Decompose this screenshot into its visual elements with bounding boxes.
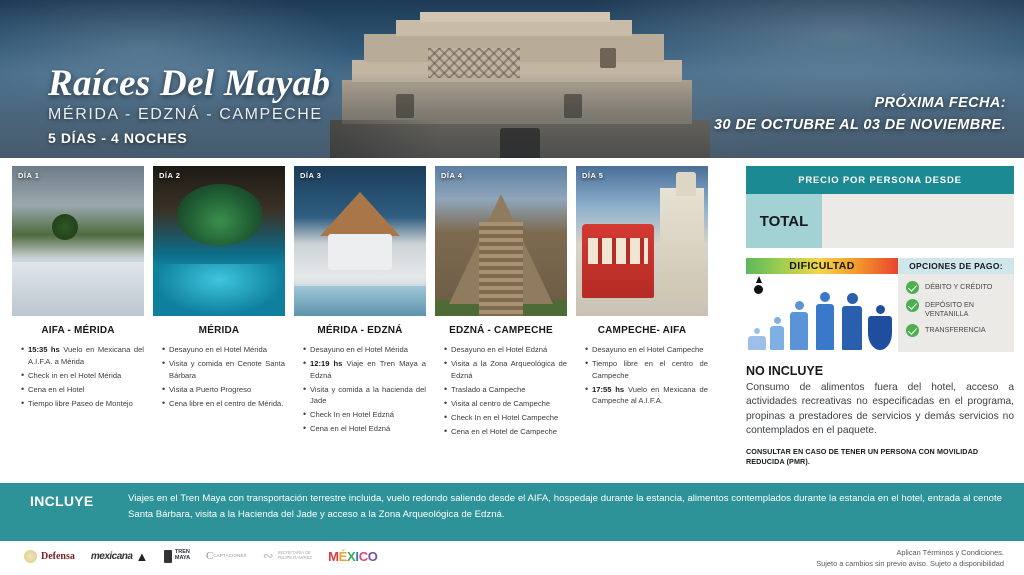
day-badge-4: DÍA 4 (441, 171, 462, 180)
day-card-5: DÍA 5CAMPECHE- AIFADesayuno en el Hotel … (576, 166, 708, 409)
eagle-icon: ▲ (135, 549, 147, 564)
day-items-2: Desayuno en el Hotel MéridaVisita y comi… (153, 344, 285, 409)
day-badge-1: DÍA 1 (18, 171, 39, 180)
not-included-heading: NO INCLUYE (746, 364, 1014, 378)
difficulty-figures (746, 274, 898, 352)
day-title-3: MÉRIDA - EDZNÁ (294, 325, 426, 336)
not-included-section: NO INCLUYE Consumo de alimentos fuera de… (746, 364, 1014, 466)
mexico-logo: MÉXICO (328, 549, 378, 564)
item-time: 17:55 hs (592, 385, 624, 394)
check-circle-icon (906, 299, 919, 312)
baby-crawling-icon (748, 328, 766, 350)
mexico-letter-5: C (359, 549, 368, 564)
mexico-letter-6: O (368, 549, 378, 564)
day-4-item-1: Desayuno en el Hotel Edzná (444, 344, 567, 356)
felipe-ramirez-logo: ∾ SECRETARÍA DE FELIPE RAMÍREZ (263, 548, 312, 564)
difficulty-payment-body: DÉBITO Y CRÉDITODEPÓSITO EN VENTANILLATR… (746, 274, 1014, 352)
day-items-5: Desayuno en el Hotel CampecheTiempo libr… (576, 344, 708, 407)
hero-banner: Raíces Del Mayab MÉRIDA - EDZNÁ - CAMPEC… (0, 0, 1024, 158)
tren-maya-logo: TREN MAYA (164, 550, 190, 563)
terms-text: Aplican Términos y Condiciones. Sujeto a… (816, 547, 1004, 569)
day-badge-3: DÍA 3 (300, 171, 321, 180)
day-card-2: DÍA 2MÉRIDADesayuno en el Hotel MéridaVi… (153, 166, 285, 412)
day-5-item-2: Tiempo libre en el centro de Campeche (585, 358, 708, 381)
mexico-letter-1: M (328, 549, 339, 564)
page-title: Raíces Del Mayab (48, 62, 330, 105)
payment-options-header: OPCIONES DE PAGO: (898, 258, 1014, 274)
difficulty-scale-bar: DIFICULTAD (746, 258, 898, 274)
footer: Defensa mexicana ▲ TREN MAYA C CAPTACION… (0, 541, 1024, 575)
day-title-5: CAMPECHE- AIFA (576, 325, 708, 336)
included-label: INCLUYE (30, 491, 128, 509)
merida-colonial-cityscape-photo: DÍA 1 (12, 166, 144, 316)
cenote-santa-barbara-photo: DÍA 2 (153, 166, 285, 316)
day-items-4: Desayuno en el Hotel EdznáVisita a la Zo… (435, 344, 567, 437)
day-title-2: MÉRIDA (153, 325, 285, 336)
day-3-item-1: Desayuno en el Hotel Mérida (303, 344, 426, 356)
price-header: PRECIO POR PERSONA DESDE (746, 166, 1014, 194)
day-4-item-5: Check In en el Hotel Campeche (444, 412, 567, 424)
capitaciones-mark-icon: C (206, 551, 213, 562)
pmr-note: CONSULTAR EN CASO DE TENER UN PERSONA CO… (746, 447, 1014, 466)
swoosh-icon: ∾ (263, 548, 274, 564)
day-items-3: Desayuno en el Hotel Mérida12:19 hs Viaj… (294, 344, 426, 435)
day-card-1: DÍA 1AIFA - MÉRIDA15:35 hs Vuelo en Mexi… (12, 166, 144, 412)
mexico-letter-3: X (347, 549, 355, 564)
hero-duration: 5 DÍAS - 4 NOCHES (48, 130, 187, 146)
day-3-item-4: Check In en Hotel Edzná (303, 409, 426, 421)
payment-options-list: DÉBITO Y CRÉDITODEPÓSITO EN VENTANILLATR… (898, 274, 1014, 352)
capitaciones-logo-text: CAPTACIONES (213, 554, 246, 558)
day-5-item-1: Desayuno en el Hotel Campeche (585, 344, 708, 356)
check-circle-icon (906, 281, 919, 294)
payment-option-3: TRANSFERENCIA (906, 324, 1008, 337)
hotel-palapa-pool-photo: DÍA 3 (294, 166, 426, 316)
payment-option-label: DEPÓSITO EN VENTANILLA (925, 299, 1008, 319)
price-body: TOTAL (746, 194, 1014, 248)
next-date-block: PRÓXIMA FECHA: 30 DE OCTUBRE AL 03 DE NO… (714, 93, 1006, 137)
defensa-logo: Defensa (24, 550, 75, 563)
day-card-4: DÍA 4EDZNÁ - CAMPECHEDesayuno en el Hote… (435, 166, 567, 440)
payment-option-1: DÉBITO Y CRÉDITO (906, 281, 1008, 294)
day-1-item-2: Check in en el Hotel Mérida (21, 370, 144, 382)
price-total-label: TOTAL (746, 194, 822, 248)
capitaciones-logo: C CAPTACIONES (206, 551, 247, 562)
day-5-item-3: 17:55 hs Vuelo en Mexicana de Campeche a… (585, 384, 708, 407)
hero-subtitle: MÉRIDA - EDZNÁ - CAMPECHE (48, 106, 323, 124)
price-total-value (822, 194, 1014, 248)
mexico-letter-2: É (339, 549, 347, 564)
day-card-3: DÍA 3MÉRIDA - EDZNÁDesayuno en el Hotel … (294, 166, 426, 437)
felipe-line2: FELIPE RAMÍREZ (278, 556, 312, 561)
terms-line-1: Aplican Términos y Condiciones. (816, 547, 1004, 558)
day-title-1: AIFA - MÉRIDA (12, 325, 144, 336)
day-4-item-3: Traslado a Campeche (444, 384, 567, 396)
not-included-text: Consumo de alimentos fuera del hotel, ac… (746, 381, 1014, 439)
day-4-item-2: Visita a la Zona Arqueológica de Edzná (444, 358, 567, 381)
check-circle-icon (906, 324, 919, 337)
terms-line-2: Sujeto a cambios sin previo aviso. Sujet… (816, 558, 1004, 569)
tren-maya-line2: MAYA (175, 556, 190, 562)
item-time: 12:19 hs (310, 359, 342, 368)
day-3-item-5: Cena en el Hotel Edzná (303, 423, 426, 435)
defensa-logo-text: Defensa (41, 551, 75, 562)
included-text: Viajes en el Tren Maya con transportació… (128, 491, 1008, 522)
day-2-item-3: Visita a Puerto Progreso (162, 384, 285, 396)
mexicana-logo-text: mexicana (91, 551, 133, 562)
mexicana-logo: mexicana ▲ (91, 549, 148, 564)
day-1-item-3: Cena en el Hotel (21, 384, 144, 396)
logo-row: Defensa mexicana ▲ TREN MAYA C CAPTACION… (24, 548, 378, 564)
payment-option-label: TRANSFERENCIA (925, 324, 986, 334)
day-3-item-2: 12:19 hs Viaje en Tren Maya a Edzná (303, 358, 426, 381)
day-badge-5: DÍA 5 (582, 171, 603, 180)
day-2-item-2: Visita y comida en Cenote Santa Bárbara (162, 358, 285, 381)
day-1-item-1: 15:35 hs Vuelo en Mexicana del A.I.F.A. … (21, 344, 144, 367)
day-1-item-4: Tiempo libre Paseo de Montejo (21, 398, 144, 410)
day-2-item-1: Desayuno en el Hotel Mérida (162, 344, 285, 356)
day-2-item-4: Cena libre en el centro de Mérida. (162, 398, 285, 410)
adult-walking-icon (816, 292, 834, 350)
right-panel: PRECIO POR PERSONA DESDE TOTAL DIFICULTA… (746, 166, 1014, 466)
defensa-seal-icon (24, 550, 37, 563)
next-date-label: PRÓXIMA FECHA: (714, 93, 1006, 115)
difficulty-payment-headers: DIFICULTAD OPCIONES DE PAGO: (746, 258, 1014, 274)
itinerary-cards: DÍA 1AIFA - MÉRIDA15:35 hs Vuelo en Mexi… (12, 166, 734, 476)
day-title-4: EDZNÁ - CAMPECHE (435, 325, 567, 336)
day-4-item-4: Visita al centro de Campeche (444, 398, 567, 410)
included-band: INCLUYE Viajes en el Tren Maya con trans… (0, 483, 1024, 541)
payment-option-label: DÉBITO Y CRÉDITO (925, 281, 992, 291)
toddler-icon (770, 317, 784, 350)
day-items-1: 15:35 hs Vuelo en Mexicana del A.I.F.A. … (12, 344, 144, 409)
child-backpack-icon (790, 301, 808, 350)
day-badge-2: DÍA 2 (159, 171, 180, 180)
item-time: 15:35 hs (28, 345, 60, 354)
edzna-pyramid-photo: DÍA 4 (435, 166, 567, 316)
wheelchair-icon (868, 305, 892, 350)
day-3-item-3: Visita y comida a la hacienda del Jade (303, 384, 426, 407)
campeche-tram-cathedral-photo: DÍA 5 (576, 166, 708, 316)
payment-option-2: DEPÓSITO EN VENTANILLA (906, 299, 1008, 319)
day-4-item-6: Cena en el Hotel de Campeche (444, 426, 567, 438)
next-date-value: 30 DE OCTUBRE AL 03 DE NOVIEMBRE. (714, 115, 1006, 137)
elderly-cane-icon (842, 293, 862, 350)
tren-maya-mark-icon (164, 550, 172, 563)
